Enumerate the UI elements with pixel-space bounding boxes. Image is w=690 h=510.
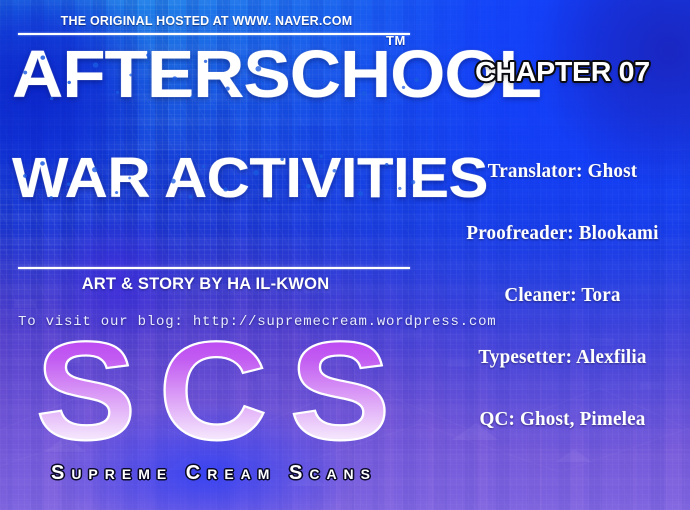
divider-rule-middle	[18, 267, 410, 269]
logo-letter-c: C	[158, 336, 267, 466]
credit-row-qc: QC: Ghost, Pimelea	[444, 388, 681, 450]
scs-logo-subtitle: Supreme Cream Scans	[18, 462, 410, 485]
logo-letter-s1: S	[36, 336, 137, 466]
credit-row-cleaner: Cleaner: Tora	[444, 264, 681, 326]
divider-rule-top	[18, 33, 410, 35]
credit-row-typesetter: Typesetter: Alexfilia	[444, 326, 681, 388]
scs-logo: S C S	[8, 336, 418, 466]
cover-page: THE ORIGINAL HOSTED AT WWW. NAVER.COM TM…	[0, 0, 690, 510]
credit-row-proofreader: Proofreader: Blookami	[444, 202, 681, 264]
series-title: AFTERSCHOOL WAR ACTIVITIES	[12, 44, 427, 204]
credit-row-translator: Translator: Ghost	[444, 140, 681, 202]
logo-letter-s2: S	[290, 336, 391, 466]
title-column: THE ORIGINAL HOSTED AT WWW. NAVER.COM TM…	[0, 0, 435, 510]
credits-column: CHAPTER 07 Translator: Ghost Proofreader…	[435, 0, 690, 510]
chapter-label: CHAPTER 07	[432, 56, 690, 88]
credits-list: Translator: Ghost Proofreader: Blookami …	[435, 140, 690, 450]
author-byline: ART & STORY BY HA IL-KWON	[0, 275, 411, 294]
source-notice: THE ORIGINAL HOSTED AT WWW. NAVER.COM	[0, 14, 413, 28]
series-title-line-2: WAR ACTIVITIES	[12, 152, 448, 204]
series-title-line-1: AFTERSCHOOL	[12, 44, 452, 106]
blog-url-link[interactable]: To visit our blog: http://supremecream.w…	[18, 314, 496, 330]
